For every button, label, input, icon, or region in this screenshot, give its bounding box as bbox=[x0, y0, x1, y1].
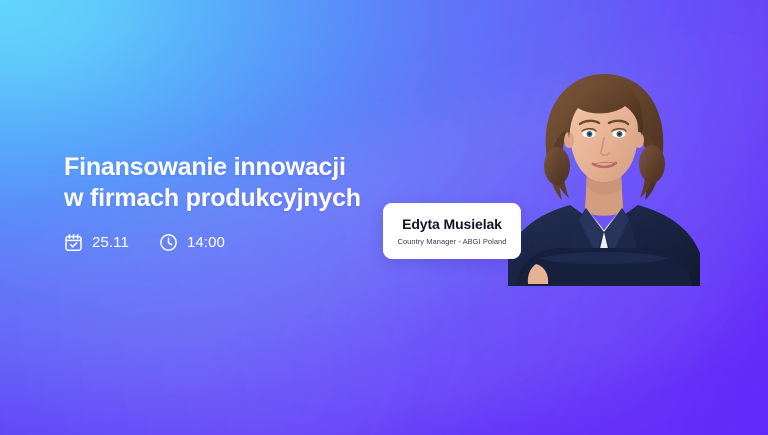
webinar-banner: Edyta Musielak Country Manager - ABGI Po… bbox=[0, 0, 768, 435]
headline-line-2: w firmach produkcyjnych bbox=[64, 183, 361, 214]
calendar-check-icon bbox=[64, 233, 83, 252]
clock-icon bbox=[159, 233, 178, 252]
headline-line-1: Finansowanie innowacji bbox=[64, 152, 361, 183]
event-date-value: 25.11 bbox=[92, 234, 129, 251]
speaker-role: Country Manager - ABGI Poland bbox=[397, 237, 506, 247]
event-time-value: 14:00 bbox=[187, 234, 225, 251]
event-time: 14:00 bbox=[159, 233, 225, 252]
event-date: 25.11 bbox=[64, 233, 129, 252]
speaker-portrait bbox=[508, 58, 700, 286]
event-meta: 25.11 14:00 bbox=[64, 233, 225, 252]
speaker-name-card: Edyta Musielak Country Manager - ABGI Po… bbox=[383, 203, 521, 259]
page-title: Finansowanie innowacji w firmach produkc… bbox=[64, 152, 361, 214]
speaker-name: Edyta Musielak bbox=[402, 216, 502, 233]
